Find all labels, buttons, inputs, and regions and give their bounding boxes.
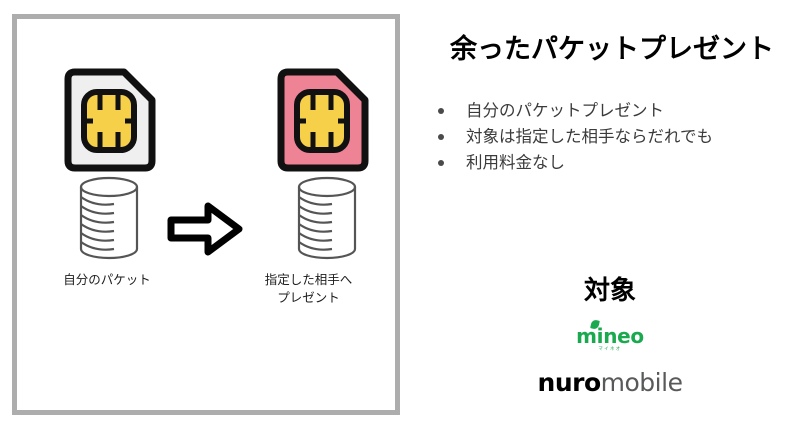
feature-list: 自分のパケットプレゼント 対象は指定した相手ならだれでも 利用料金なし: [430, 98, 800, 176]
mineo-wordmark: mineo: [576, 324, 644, 348]
feature-label: 自分のパケットプレゼント: [466, 102, 664, 120]
right-arrow-icon: [167, 201, 243, 262]
page-title: 余ったパケットプレゼント: [450, 27, 790, 66]
logo-mineo: mineo マイネオ: [420, 326, 800, 355]
slide-root: 自分のパケット 指定した相手へ プレゼント 余ったパケットプレゼント 自分のパケ…: [0, 0, 800, 430]
feature-label: 対象は指定した相手ならだれでも: [466, 128, 713, 146]
bullet-dot-icon: [438, 160, 444, 166]
content-column: 余ったパケットプレゼント 自分のパケットプレゼント 対象は指定した相手ならだれで…: [420, 0, 800, 430]
bullet-dot-icon: [438, 108, 444, 114]
packet-cylinder-own-icon: [69, 173, 149, 270]
list-item: 自分のパケットプレゼント: [430, 98, 800, 124]
packet-gift-diagram-panel: 自分のパケット 指定した相手へ プレゼント: [12, 14, 400, 415]
list-item: 対象は指定した相手ならだれでも: [430, 124, 800, 150]
packet-cylinder-recipient-icon: [287, 173, 367, 270]
mineo-logo-mark: mineo マイネオ: [576, 326, 644, 352]
caption-recipient-packet: 指定した相手へ プレゼント: [221, 271, 396, 307]
nuro-wordmark: nuro: [538, 368, 601, 397]
feature-label: 利用料金なし: [466, 154, 565, 172]
logo-nuromobile: nuromobile: [420, 370, 800, 395]
mobile-wordmark: mobile: [601, 368, 683, 397]
sim-card-recipient-icon: [275, 67, 371, 178]
list-item: 利用料金なし: [430, 150, 800, 176]
bullet-dot-icon: [438, 134, 444, 140]
caption-own-packet: 自分のパケット: [17, 271, 197, 289]
mineo-subtext: マイネオ: [576, 348, 644, 352]
sim-card-own-icon: [62, 67, 158, 178]
target-heading: 対象: [420, 270, 800, 307]
